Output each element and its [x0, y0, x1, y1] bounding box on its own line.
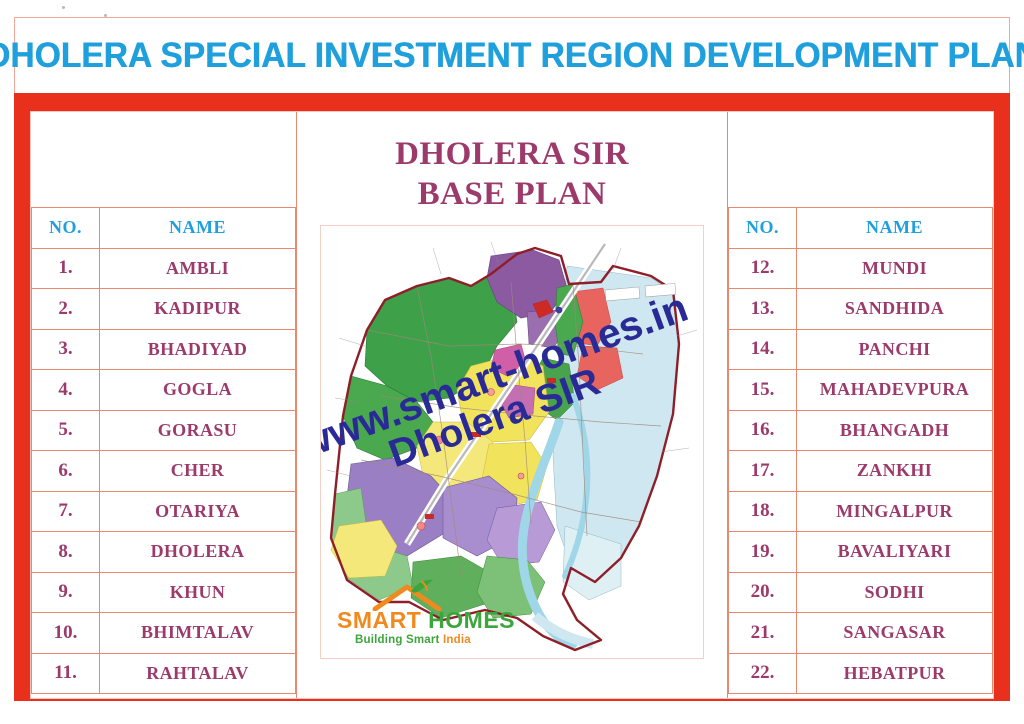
- village-name: SANDHIDA: [797, 289, 993, 330]
- scan-speck: [62, 6, 65, 9]
- village-table-left: NO. NAME 1.AMBLI 2.KADIPUR 3.BHADIYAD 4.…: [31, 112, 296, 698]
- house-roof-icon: [337, 579, 487, 611]
- village-name: RAHTALAV: [100, 653, 296, 694]
- row-number: 19.: [729, 532, 797, 573]
- table-row[interactable]: 17.ZANKHI: [729, 451, 993, 492]
- row-number: 15.: [729, 370, 797, 411]
- row-number: 13.: [729, 289, 797, 330]
- row-number: 10.: [32, 613, 100, 654]
- village-name: PANCHI: [797, 329, 993, 370]
- table-right: NO. NAME 12.MUNDI 13.SANDHIDA 14.PANCHI …: [728, 207, 993, 694]
- village-name: KHUN: [100, 572, 296, 613]
- red-frame: NO. NAME 1.AMBLI 2.KADIPUR 3.BHADIYAD 4.…: [14, 93, 1010, 701]
- table-row[interactable]: 19.BAVALIYARI: [729, 532, 993, 573]
- village-name: GOGLA: [100, 370, 296, 411]
- table-row[interactable]: 18.MINGALPUR: [729, 491, 993, 532]
- table-row[interactable]: 12.MUNDI: [729, 248, 993, 289]
- column-header-name: NAME: [797, 208, 993, 249]
- village-name: CHER: [100, 451, 296, 492]
- village-name: BHIMTALAV: [100, 613, 296, 654]
- table-row[interactable]: 2.KADIPUR: [32, 289, 296, 330]
- village-name: AMBLI: [100, 248, 296, 289]
- table-row[interactable]: 1.AMBLI: [32, 248, 296, 289]
- table-row[interactable]: 4.GOGLA: [32, 370, 296, 411]
- village-name: KADIPUR: [100, 289, 296, 330]
- table-row[interactable]: 10.BHIMTALAV: [32, 613, 296, 654]
- row-number: 7.: [32, 491, 100, 532]
- village-name: SODHI: [797, 572, 993, 613]
- row-number: 9.: [32, 572, 100, 613]
- row-number: 4.: [32, 370, 100, 411]
- village-name: SANGASAR: [797, 613, 993, 654]
- table-left-body: NO. NAME 1.AMBLI 2.KADIPUR 3.BHADIYAD 4.…: [32, 208, 296, 694]
- table-row[interactable]: 13.SANDHIDA: [729, 289, 993, 330]
- map-panel: DHOLERA SIR BASE PLAN: [296, 112, 728, 698]
- table-row[interactable]: 9.KHUN: [32, 572, 296, 613]
- table-row[interactable]: 3.BHADIYAD: [32, 329, 296, 370]
- row-number: 20.: [729, 572, 797, 613]
- row-number: 22.: [729, 653, 797, 694]
- map-container[interactable]: www.smart-homes.in Dholera SIR: [320, 225, 704, 659]
- page-title: DHOLERA SPECIAL INVESTMENT REGION DEVELO…: [0, 36, 1024, 76]
- row-number: 17.: [729, 451, 797, 492]
- row-number: 16.: [729, 410, 797, 451]
- village-name: ZANKHI: [797, 451, 993, 492]
- row-number: 3.: [32, 329, 100, 370]
- village-name: GORASU: [100, 410, 296, 451]
- row-number: 8.: [32, 532, 100, 573]
- table-row[interactable]: 8.DHOLERA: [32, 532, 296, 573]
- row-number: 2.: [32, 289, 100, 330]
- column-header-name: NAME: [100, 208, 296, 249]
- logo-tagline-part1: Building Smart: [355, 634, 440, 646]
- logo-wordmark: SMART HOMES: [337, 609, 515, 632]
- row-number: 18.: [729, 491, 797, 532]
- table-header-row: NO. NAME: [729, 208, 993, 249]
- village-name: BHADIYAD: [100, 329, 296, 370]
- row-number: 1.: [32, 248, 100, 289]
- village-name: OTARIYA: [100, 491, 296, 532]
- logo-tagline: Building Smart India: [355, 634, 515, 646]
- village-name: MINGALPUR: [797, 491, 993, 532]
- map-title-line1: DHOLERA SIR: [395, 134, 629, 174]
- village-name: HEBATPUR: [797, 653, 993, 694]
- map-title-line2: BASE PLAN: [395, 174, 629, 214]
- row-number: 11.: [32, 653, 100, 694]
- village-name: BHANGADH: [797, 410, 993, 451]
- table-row[interactable]: 7.OTARIYA: [32, 491, 296, 532]
- table-row[interactable]: 15.MAHADEVPURA: [729, 370, 993, 411]
- village-name: DHOLERA: [100, 532, 296, 573]
- smart-homes-logo[interactable]: SMART HOMES Building Smart India: [337, 579, 515, 646]
- village-name: MAHADEVPURA: [797, 370, 993, 411]
- table-row[interactable]: 20.SODHI: [729, 572, 993, 613]
- map-title: DHOLERA SIR BASE PLAN: [395, 134, 629, 215]
- row-number: 21.: [729, 613, 797, 654]
- logo-mark: [337, 579, 487, 609]
- column-header-no: NO.: [729, 208, 797, 249]
- row-number: 14.: [729, 329, 797, 370]
- table-row[interactable]: 6.CHER: [32, 451, 296, 492]
- table-row[interactable]: 21.SANGASAR: [729, 613, 993, 654]
- row-number: 5.: [32, 410, 100, 451]
- content-area: NO. NAME 1.AMBLI 2.KADIPUR 3.BHADIYAD 4.…: [30, 111, 994, 699]
- table-header-row: NO. NAME: [32, 208, 296, 249]
- table-row[interactable]: 5.GORASU: [32, 410, 296, 451]
- table-row[interactable]: 14.PANCHI: [729, 329, 993, 370]
- logo-tagline-part2: India: [443, 634, 471, 646]
- table-row[interactable]: 16.BHANGADH: [729, 410, 993, 451]
- table-row[interactable]: 22.HEBATPUR: [729, 653, 993, 694]
- poster-root: DHOLERA SPECIAL INVESTMENT REGION DEVELO…: [0, 0, 1024, 724]
- village-name: BAVALIYARI: [797, 532, 993, 573]
- village-name: MUNDI: [797, 248, 993, 289]
- column-header-no: NO.: [32, 208, 100, 249]
- table-left: NO. NAME 1.AMBLI 2.KADIPUR 3.BHADIYAD 4.…: [31, 207, 296, 694]
- row-number: 6.: [32, 451, 100, 492]
- table-right-body: NO. NAME 12.MUNDI 13.SANDHIDA 14.PANCHI …: [729, 208, 993, 694]
- row-number: 12.: [729, 248, 797, 289]
- table-row[interactable]: 11.RAHTALAV: [32, 653, 296, 694]
- village-table-right: NO. NAME 12.MUNDI 13.SANDHIDA 14.PANCHI …: [728, 112, 993, 698]
- poster-title-band: DHOLERA SPECIAL INVESTMENT REGION DEVELO…: [14, 17, 1010, 94]
